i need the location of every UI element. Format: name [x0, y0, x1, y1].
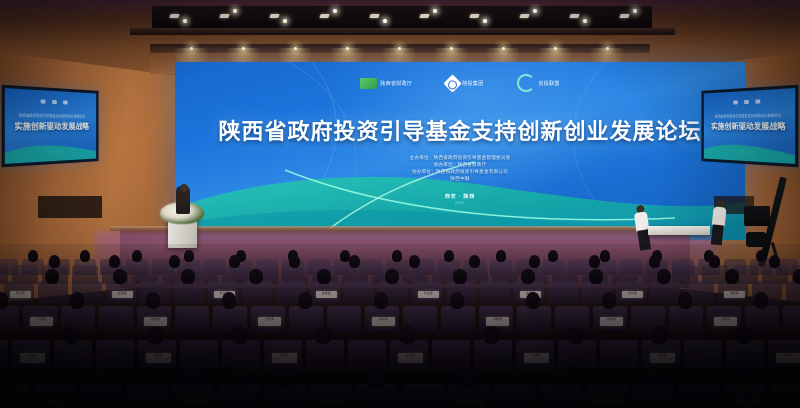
side-screen-right: 陕西省政府投资引导基金支持创新创业发展论坛 实施创新驱动发展战略 西安 · 陕西	[701, 85, 798, 168]
stage-edge	[110, 226, 700, 231]
truss-spotlight	[519, 14, 529, 18]
video-monitor	[744, 206, 770, 226]
truss-spotlight	[219, 14, 229, 18]
logo-label: 陕西省财政厅	[380, 80, 412, 87]
organizer-block: 主办单位：陕西省政府投资引导基金管理委员会 承办单位：陕西省财政厅 协办单位：陕…	[175, 154, 745, 182]
logo-mark-icon	[63, 100, 67, 104]
truss-light-dot	[333, 9, 337, 13]
truss-light-dot	[183, 19, 187, 23]
audience-area: 代表席贵宾席代表席贵宾席代表席贵宾席代表席贵宾席代表席专家席领导席专家席领导席专…	[0, 244, 800, 408]
logo-diamond-mark: 陕投集团	[446, 77, 483, 90]
truss-spotlight	[469, 14, 479, 18]
organizer-line: 承办单位：陕西省财政厅	[175, 161, 745, 168]
date-year: 2021	[175, 201, 745, 205]
truss-spotlight	[619, 14, 629, 18]
truss-spotlight	[419, 14, 429, 18]
logo-mark-icon	[733, 100, 737, 104]
main-led-screen: 陕西省财政厅 陕投集团 创投联盟 陕西省政府投资引导基金支持创新创业发展论坛 主…	[175, 62, 745, 240]
truss-rail	[130, 28, 675, 35]
ceiling-downlight	[294, 47, 297, 50]
organizer-line: 陕西中融	[175, 175, 745, 182]
truss-light-dot	[283, 19, 287, 23]
logo-badge-icon	[360, 78, 377, 89]
white-table	[648, 226, 710, 235]
organizer-line: 主办单位：陕西省政府投资引导基金管理委员会	[175, 154, 745, 161]
side-screen-left: 陕西省政府投资引导基金支持创新创业发展论坛 实施创新驱动发展战略 西安 · 陕西	[2, 85, 99, 168]
truss-light-dot	[533, 9, 537, 13]
side-screen-right-content: 陕西省政府投资引导基金支持创新创业发展论坛 实施创新驱动发展战略 西安 · 陕西	[704, 88, 795, 164]
presenter-head	[180, 184, 188, 192]
ceiling-downlight	[606, 47, 609, 50]
ceiling-downlight	[502, 47, 505, 50]
forum-title: 陕西省政府投资引导基金支持创新创业发展论坛	[175, 114, 745, 146]
truss-light-dot	[233, 9, 237, 13]
ceiling-downlight	[346, 47, 349, 50]
logo-mark-icon	[744, 100, 749, 104]
date-location-block: 西安 · 陕西 2021	[175, 193, 745, 205]
side-logo-row	[5, 98, 96, 106]
audience-shadow-overlay	[0, 244, 800, 408]
truss-spotlight	[169, 14, 179, 18]
staff-legs	[711, 224, 724, 245]
logo-mark-icon	[52, 100, 57, 104]
logo-ring-mark: 创投联盟	[517, 74, 559, 92]
side-logo-row	[704, 98, 795, 106]
logo-label: 陕投集团	[462, 80, 483, 87]
organizer-line: 协办单位：陕西省政府投资引导基金有限公司	[175, 168, 745, 175]
ceiling-downlight	[242, 47, 245, 50]
logo-label: 创投联盟	[538, 80, 559, 87]
truss-spotlight	[369, 14, 379, 18]
logo-mark-icon	[40, 99, 45, 103]
logo-shaanxi-finance: 陕西省财政厅	[360, 78, 412, 89]
truss-spotlight	[269, 14, 279, 18]
sponsor-logo-row: 陕西省财政厅 陕投集团 创投联盟	[175, 74, 745, 92]
truss-light-dot	[483, 19, 487, 23]
side-wave-graphic	[704, 138, 795, 164]
truss-spotlight	[569, 14, 579, 18]
side-screen-subtitle: 陕西省政府投资引导基金支持创新创业发展论坛	[704, 112, 795, 119]
truss-spotlight	[319, 14, 329, 18]
date-location: 西安 · 陕西	[175, 193, 745, 200]
truss-light-dot	[383, 19, 387, 23]
ceiling-downlight	[450, 47, 453, 50]
ceiling-downlight	[190, 47, 193, 50]
truss-light-dot	[633, 9, 637, 13]
side-screen-title: 实施创新驱动发展战略	[5, 121, 96, 133]
screenshot-root: 陕西省财政厅 陕投集团 创投联盟 陕西省政府投资引导基金支持创新创业发展论坛 主…	[0, 0, 800, 408]
wall-vent-left	[38, 196, 102, 218]
side-screen-subtitle: 陕西省政府投资引导基金支持创新创业发展论坛	[5, 112, 96, 119]
truss-light-dot	[583, 19, 587, 23]
logo-mark-icon	[755, 99, 760, 103]
ceiling-downlight	[398, 47, 401, 50]
side-wave-graphic	[5, 138, 96, 164]
truss-light-dot	[433, 9, 437, 13]
diamond-icon	[444, 74, 462, 92]
ceiling-downlight	[554, 47, 557, 50]
ring-icon	[517, 74, 535, 92]
side-screen-title: 实施创新驱动发展战略	[704, 121, 795, 133]
lighting-truss	[152, 6, 652, 30]
side-screen-left-content: 陕西省政府投资引导基金支持创新创业发展论坛 实施创新驱动发展战略 西安 · 陕西	[5, 88, 96, 164]
